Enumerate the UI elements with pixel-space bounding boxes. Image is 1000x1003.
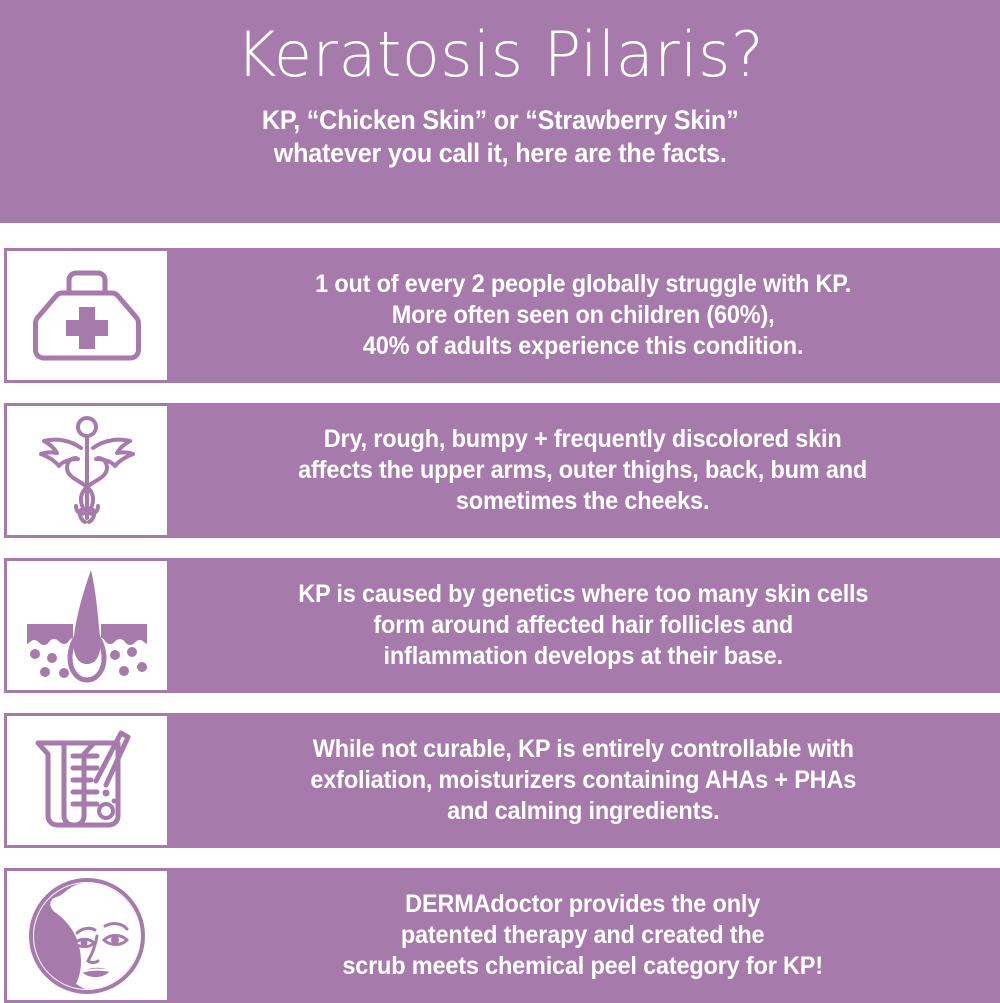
fact-text-bar: While not curable, KP is entirely contro… [170,713,1000,848]
icon-box [4,558,170,693]
icon-box [4,713,170,848]
fact-line: While not curable, KP is entirely contro… [310,734,856,765]
fact-line: 1 out of every 2 people globally struggl… [315,269,851,300]
fact-row: While not curable, KP is entirely contro… [0,713,1000,848]
header-subtitle-line-1: KP, “Chicken Skin” or “Strawberry Skin” [262,104,739,137]
infographic-root: Keratosis Pilaris? KP, “Chicken Skin” or… [0,0,1000,1000]
fact-line: KP is caused by genetics where too many … [298,579,868,610]
header-banner: Keratosis Pilaris? KP, “Chicken Skin” or… [0,0,1000,223]
icon-box [4,403,170,538]
dermadoctor-face-logo [27,876,147,996]
fact-line: DERMAdoctor provides the only [343,889,824,920]
fact-text: DERMAdoctor provides the only patented t… [343,889,824,982]
fact-line: inflammation develops at their base. [298,641,868,672]
fact-line: form around affected hair follicles and [298,610,868,641]
fact-text-bar: KP is caused by genetics where too many … [170,558,1000,693]
hair-follicle-icon [19,568,155,684]
fact-line: and calming ingredients. [310,796,856,827]
fact-line: sometimes the cheeks. [299,486,868,517]
fact-row: DERMAdoctor provides the only patented t… [0,868,1000,1003]
fact-row: KP is caused by genetics where too many … [0,558,1000,693]
fact-text-bar: DERMAdoctor provides the only patented t… [170,868,1000,1003]
header-subtitle: KP, “Chicken Skin” or “Strawberry Skin” … [262,104,739,170]
page-title: Keratosis Pilaris? [236,18,764,92]
fact-line: scrub meets chemical peel category for K… [343,951,824,982]
fact-line: 40% of adults experience this condition. [315,331,851,362]
caduceus-icon [26,414,148,528]
fact-line: Dry, rough, bumpy + frequently discolore… [299,424,868,455]
fact-row: Dry, rough, bumpy + frequently discolore… [0,403,1000,538]
fact-line: exfoliation, moisturizers containing AHA… [310,765,856,796]
fact-text-bar: 1 out of every 2 people globally struggl… [170,248,1000,383]
fact-line: More often seen on children (60%), [315,300,851,331]
cross-glyph [66,307,108,349]
fact-text: 1 out of every 2 people globally struggl… [315,269,851,362]
header-subtitle-line-2: whatever you call it, here are the facts… [262,137,739,170]
fact-line: affects the upper arms, outer thighs, ba… [299,455,868,486]
beaker-icon [26,723,148,839]
fact-row: 1 out of every 2 people globally struggl… [0,248,1000,383]
fact-text: KP is caused by genetics where too many … [298,579,868,672]
icon-box [4,868,170,1003]
fact-rows: 1 out of every 2 people globally struggl… [0,248,1000,1003]
fact-line: patented therapy and created the [343,920,824,951]
fact-text-bar: Dry, rough, bumpy + frequently discolore… [170,403,1000,538]
fact-text: Dry, rough, bumpy + frequently discolore… [299,424,868,517]
medical-bag-icon [22,264,152,368]
icon-box [4,248,170,383]
fact-text: While not curable, KP is entirely contro… [310,734,856,827]
